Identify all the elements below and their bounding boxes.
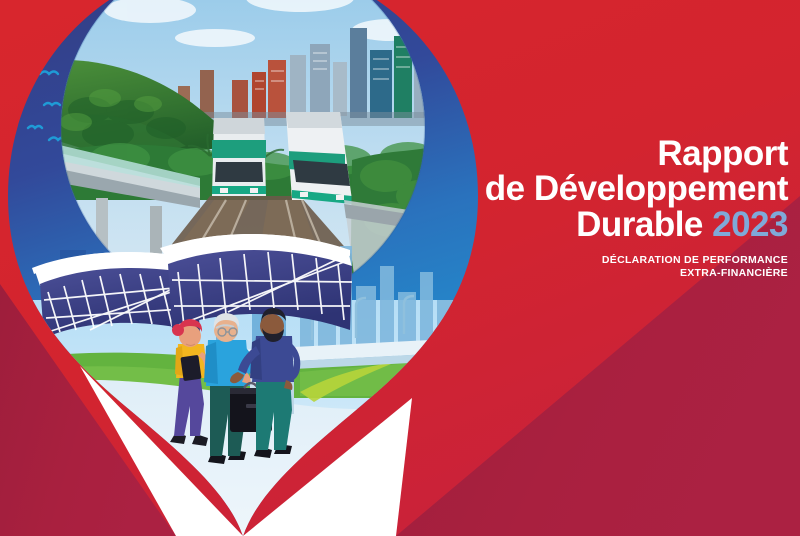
report-cover: Rapport de Développement Durable 2023 DÉ…	[0, 0, 800, 536]
bottom-white-mask	[0, 0, 800, 536]
